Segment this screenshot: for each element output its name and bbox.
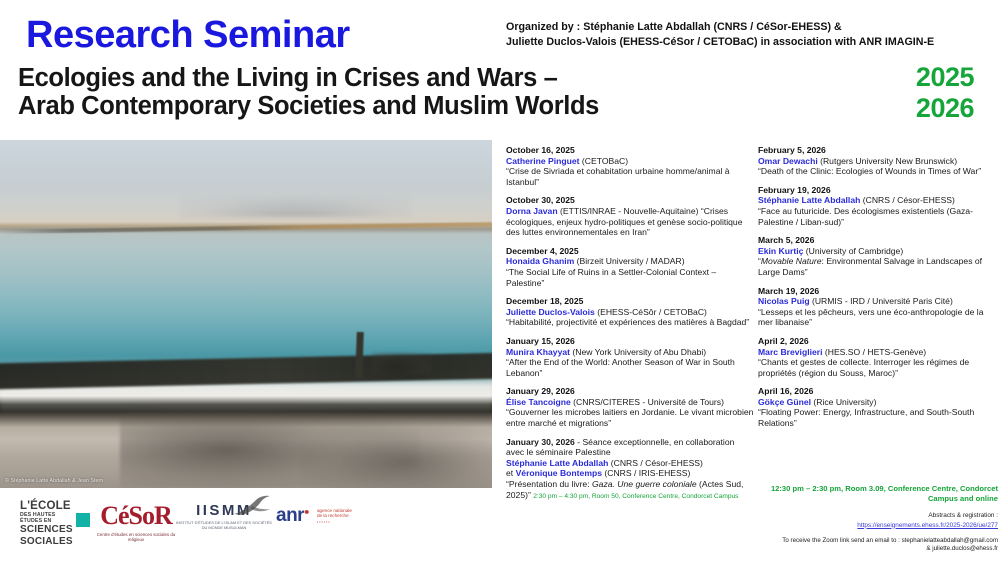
entry-talk-title: “Movable Nature: Environmental Salvage i…	[758, 256, 982, 277]
entry-affiliation: (CNRS / IRIS-EHESS)	[602, 468, 690, 478]
entry-affiliation: (CNRS / Césor-EHESS)	[608, 458, 703, 468]
program-entry: October 16, 2025 Catherine Pinguet (CETO…	[506, 145, 754, 187]
venue-line-1: 12:30 pm – 2:30 pm, Room 3.09, Conferenc…	[771, 484, 998, 493]
cesor-tagline: Centre d'études en sciences sociales du …	[92, 532, 180, 543]
subtitle-line-1: Ecologies and the Living in Crises and W…	[18, 64, 818, 92]
entry-body: Ekin Kurtiç (University of Cambridge)	[758, 246, 998, 257]
entry-affiliation: (URMIS - IRD / Université Paris Cité)	[810, 296, 953, 306]
abstracts-label: Abstracts & registration :	[756, 512, 998, 521]
anr-logo: anr● agence nationale de la recherche • …	[276, 506, 396, 526]
program-entry: December 18, 2025 Juliette Duclos-Valois…	[506, 296, 754, 328]
speaker-connector: et	[506, 468, 516, 478]
talk-book-title: Movable Nature	[761, 256, 822, 266]
entry-talk-title: “Face au futuricide. Des écologismes exi…	[758, 206, 973, 227]
ehess-line-2: DES HAUTES ÉTUDES EN	[20, 512, 64, 524]
entry-date: October 30, 2025	[506, 195, 754, 206]
iismm-logo: IISMM INSTITUT D'ÉTUDES DE L'ISLAM ET DE…	[176, 502, 272, 531]
anr-tagline-2: de la recherche	[317, 513, 349, 518]
zoom-line-2: & juliette.duclos@ehess.fr	[756, 545, 998, 553]
ehess-line-1: L'ÉCOLE	[20, 500, 92, 512]
year-end: 2026	[916, 93, 974, 124]
page-title: Research Seminar	[26, 14, 350, 57]
venue-info: 12:30 pm – 2:30 pm, Room 3.09, Conferenc…	[756, 484, 998, 504]
mountain-range	[180, 195, 410, 217]
entry-speaker: Véronique Bontemps	[516, 468, 602, 478]
subtitle-line-2: Arab Contemporary Societies and Muslim W…	[18, 92, 818, 120]
registration-link[interactable]: https://enseignements.ehess.fr/2025-2026…	[756, 521, 998, 530]
program-entry: April 16, 2026 Gökçe Günel (Rice Univers…	[758, 386, 998, 428]
entry-affiliation: (Rice University)	[811, 397, 876, 407]
entry-speaker: Munira Khayyat	[506, 347, 570, 357]
program-entry: March 5, 2026 Ekin Kurtiç (University of…	[758, 235, 998, 277]
entry-affiliation: (New York University of Abu Dhabi)	[570, 347, 706, 357]
entry-speaker: Honaida Ghanim	[506, 256, 574, 266]
entry-date: March 19, 2026	[758, 286, 998, 297]
cesor-wordmark: CéSoR	[92, 502, 180, 530]
entry-speaker: Élise Tancoigne	[506, 397, 571, 407]
entry-body: Nicolas Puig (URMIS - IRD / Université P…	[758, 296, 998, 307]
entry-body: Catherine Pinguet (CETOBaC)	[506, 156, 754, 167]
entry-date: February 19, 2026	[758, 185, 998, 196]
entry-talk-title: “Habitabilité, projectivité et expérienc…	[506, 317, 749, 327]
entry-affiliation: (University of Cambridge)	[803, 246, 903, 256]
entry-body: Marc Breviglieri (HES.SO / HETS-Genève)	[758, 347, 998, 358]
entry-speaker: Marc Breviglieri	[758, 347, 822, 357]
talk-book-title: Gaza. Une guerre coloniale	[592, 479, 697, 489]
ehess-line-4: SOCIALES	[20, 536, 92, 548]
program-column-right: February 5, 2026 Omar Dewachi (Rutgers U…	[758, 145, 998, 437]
bird-icon	[232, 494, 276, 520]
special-session-venue: 2:30 pm – 4:30 pm, Room 50, Conference C…	[533, 493, 738, 500]
entry-date: February 5, 2026	[758, 145, 998, 156]
foreground-grass-right	[300, 420, 492, 488]
zoom-line-1: To receive the Zoom link send an email t…	[756, 537, 998, 545]
entry-speaker: Nicolas Puig	[758, 296, 810, 306]
entry-speaker: Ekin Kurtiç	[758, 246, 803, 256]
entry-speaker: Dorna Javan	[506, 206, 558, 216]
entry-affiliation: (CNRS/CITERES - Université de Tours)	[571, 397, 724, 407]
talk-prefix: “Présentation du livre:	[506, 479, 592, 489]
program-entry: February 5, 2026 Omar Dewachi (Rutgers U…	[758, 145, 998, 177]
zoom-contact: To receive the Zoom link send an email t…	[756, 537, 998, 554]
program-entry: March 19, 2026 Nicolas Puig (URMIS - IRD…	[758, 286, 998, 328]
poster-subtitle: Ecologies and the Living in Crises and W…	[18, 64, 818, 120]
venue-line-2: Campus and online	[928, 494, 998, 503]
entry-body: Dorna Javan (ETTIS/INRAE - Nouvelle-Aqui…	[506, 206, 754, 238]
entry-body: Omar Dewachi (Rutgers University New Bru…	[758, 156, 998, 167]
seminar-poster: Research Seminar Ecologies and the Livin…	[0, 0, 1000, 563]
entry-speaker: Catherine Pinguet	[506, 156, 580, 166]
anr-tagline: agence nationale de la recherche • • • •…	[317, 508, 379, 526]
program-entry: January 29, 2026 Élise Tancoigne (CNRS/C…	[506, 386, 754, 428]
entry-talk-title: “After the End of the World: Another Sea…	[506, 357, 735, 378]
program-entry: December 4, 2025 Honaida Ghanim (Birzeit…	[506, 246, 754, 288]
entry-date: December 4, 2025	[506, 246, 754, 257]
program-entry: January 15, 2026 Munira Khayyat (New Yor…	[506, 336, 754, 378]
entry-talk-title: “Gouverner les microbes laitiers en Jord…	[506, 407, 753, 428]
entry-speaker: Omar Dewachi	[758, 156, 818, 166]
anr-tagline-1: agence nationale	[317, 508, 352, 513]
entry-speaker: Stéphanie Latte Abdallah	[506, 458, 608, 468]
ehess-square-icon	[76, 513, 90, 527]
entry-affiliation: (ETTIS/INRAE - Nouvelle-Aquitaine)	[558, 206, 701, 216]
entry-talk-title: “The Social Life of Ruins in a Settler-C…	[506, 267, 716, 288]
entry-date: January 15, 2026	[506, 336, 754, 347]
entry-affiliation: (CNRS / Césor-EHESS)	[860, 195, 955, 205]
entry-speaker: Juliette Duclos-Valois	[506, 307, 595, 317]
entry-date: March 5, 2026	[758, 235, 998, 246]
special-session-header: January 30, 2026 - Séance exceptionnelle…	[506, 437, 754, 458]
cesor-logo: CéSoR Centre d'études en sciences social…	[92, 502, 180, 543]
entry-speaker: Gökçe Günel	[758, 397, 811, 407]
poster-header: Research Seminar Ecologies and the Livin…	[0, 0, 1000, 140]
program-entry: February 19, 2026 Stéphanie Latte Abdall…	[758, 185, 998, 227]
year-start: 2025	[916, 62, 974, 93]
ehess-logo: L'ÉCOLE DES HAUTES ÉTUDES EN SCIENCES SO…	[20, 500, 92, 547]
program-entry: October 30, 2025 Dorna Javan (ETTIS/INRA…	[506, 195, 754, 237]
shrub-cluster	[372, 352, 432, 374]
program-entry: April 2, 2026 Marc Breviglieri (HES.SO /…	[758, 336, 998, 378]
entry-affiliation: (EHESS-CéSôr / CETOBaC)	[595, 307, 707, 317]
anr-tagline-3: • • • • • •	[317, 520, 330, 524]
entry-body: Juliette Duclos-Valois (EHESS-CéSôr / CE…	[506, 307, 754, 318]
entry-affiliation: (Rutgers University New Brunswick)	[818, 156, 957, 166]
entry-date: January 29, 2026	[506, 386, 754, 397]
footer-info: 12:30 pm – 2:30 pm, Room 3.09, Conferenc…	[756, 484, 998, 553]
entry-date: April 16, 2026	[758, 386, 998, 397]
entry-date: October 16, 2025	[506, 145, 754, 156]
far-shore-line	[0, 222, 492, 234]
entry-date: December 18, 2025	[506, 296, 754, 307]
entry-body: Gökçe Günel (Rice University)	[758, 397, 998, 408]
logo-bar: L'ÉCOLE DES HAUTES ÉTUDES EN SCIENCES SO…	[0, 492, 500, 563]
anr-wordmark: anr	[276, 506, 304, 526]
special-session-entry: January 30, 2026 - Séance exceptionnelle…	[506, 437, 754, 503]
academic-year: 2025 2026	[916, 62, 974, 124]
entry-affiliation: (Birzeit University / MADAR)	[574, 256, 684, 266]
entry-talk-title: “Présentation du livre: Gaza. Une guerre…	[506, 479, 743, 500]
entry-talk-title: “Lesseps et les pêcheurs, vers une éco-a…	[758, 307, 984, 328]
entry-body: Munira Khayyat (New York University of A…	[506, 347, 754, 358]
program-column-left: October 16, 2025 Catherine Pinguet (CETO…	[506, 145, 754, 510]
entry-body: Stéphanie Latte Abdallah (CNRS / Césor-E…	[758, 195, 998, 206]
landscape-photo: © Stéphanie Latte Abdallah & Jean Stern	[0, 140, 492, 488]
photo-credit: © Stéphanie Latte Abdallah & Jean Stern	[5, 478, 103, 484]
organizers-line-2: Juliette Duclos-Valois (EHESS-CéSor / CE…	[506, 35, 992, 50]
anr-star-icon: ●	[304, 507, 309, 517]
entry-talk-title: “Floating Power: Energy, Infrastructure,…	[758, 407, 974, 428]
special-session-speakers-1: Stéphanie Latte Abdallah (CNRS / Césor-E…	[506, 458, 754, 469]
iismm-tagline: INSTITUT D'ÉTUDES DE L'ISLAM ET DES SOCI…	[176, 521, 272, 531]
entry-date: April 2, 2026	[758, 336, 998, 347]
organizers-block: Organized by : Stéphanie Latte Abdallah …	[506, 20, 992, 50]
entry-date: January 30, 2026	[506, 437, 575, 447]
entry-body: Honaida Ghanim (Birzeit University / MAD…	[506, 256, 754, 267]
entry-body: Élise Tancoigne (CNRS/CITERES - Universi…	[506, 397, 754, 408]
special-session-speakers-2: et Véronique Bontemps (CNRS / IRIS-EHESS…	[506, 468, 754, 479]
entry-talk-title: “Crise de Sivriada et cohabitation urbai…	[506, 166, 730, 187]
entry-affiliation: (HES.SO / HETS-Genève)	[822, 347, 926, 357]
entry-talk-title: “Death of the Clinic: Ecologies of Wound…	[758, 166, 981, 176]
entry-talk-title: “Chants et gestes de collecte. Interroge…	[758, 357, 969, 378]
entry-affiliation: (CETOBaC)	[580, 156, 629, 166]
organizers-line-1: Organized by : Stéphanie Latte Abdallah …	[506, 20, 992, 35]
entry-speaker: Stéphanie Latte Abdallah	[758, 195, 860, 205]
